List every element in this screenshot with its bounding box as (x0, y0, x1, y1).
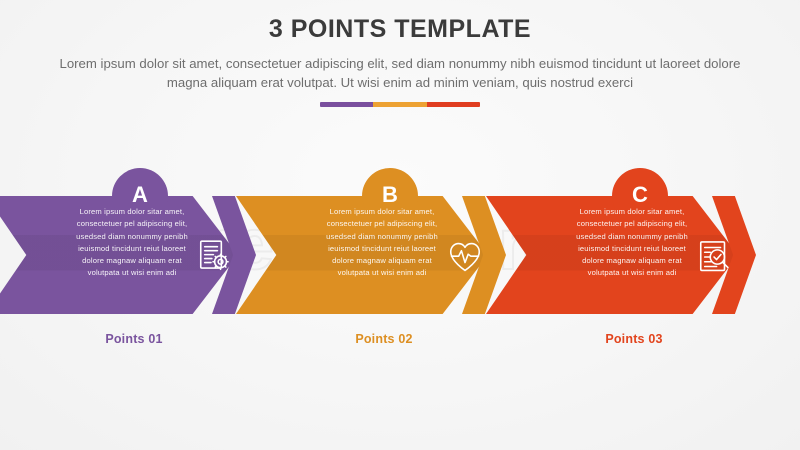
divider-bar (320, 102, 480, 107)
steps-band: dreamstime A Lorem ipsum dolor sitar ame… (0, 160, 800, 320)
step-a[interactable]: A Lorem ipsum dolor sitar amet, consecte… (0, 160, 238, 320)
step-c-description: Lorem ipsum dolor sitar amet, consectetu… (568, 206, 696, 280)
page-title: 3 POINTS TEMPLATE (0, 16, 800, 44)
page-subtitle: Lorem ipsum dolor sit amet, consectetuer… (50, 54, 750, 92)
step-b[interactable]: B Lorem ipsum dolor sitar amet, consecte… (236, 160, 488, 320)
step-c[interactable]: C Lorem ipsum dolor sitar amet, consecte… (486, 160, 738, 320)
step-c-caption: Points 03 (554, 332, 714, 346)
step-a-description: Lorem ipsum dolor sitar amet, consectetu… (68, 206, 196, 280)
divider-segment-2 (373, 102, 426, 107)
step-c-letter: C (632, 184, 648, 206)
step-b-letter: B (382, 184, 398, 206)
step-b-description: Lorem ipsum dolor sitar amet, consectetu… (318, 206, 446, 280)
divider-segment-3 (427, 102, 480, 107)
step-b-caption: Points 02 (304, 332, 464, 346)
divider-segment-1 (320, 102, 373, 107)
step-a-letter: A (132, 184, 148, 206)
header: 3 POINTS TEMPLATE Lorem ipsum dolor sit … (0, 0, 800, 107)
step-a-caption: Points 01 (54, 332, 214, 346)
